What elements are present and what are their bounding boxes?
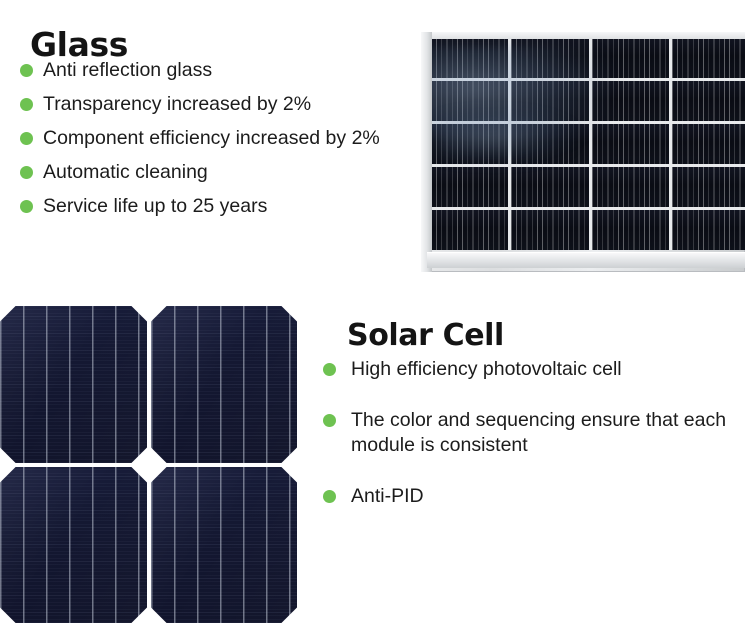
- glass-feature-text: Automatic cleaning: [43, 160, 420, 185]
- glass-section-heading: Glass: [30, 28, 128, 61]
- list-item: Component efficiency increased by 2%: [20, 126, 420, 151]
- list-item: Automatic cleaning: [20, 160, 420, 185]
- pv-cell: [431, 81, 508, 121]
- cell-chamfer-corner: [0, 306, 16, 322]
- pv-cell: [592, 167, 669, 207]
- cell-chamfer-corner: [131, 467, 147, 483]
- cell-chamfer-corner: [0, 447, 16, 463]
- cell-sheen: [151, 467, 298, 623]
- solar-cell-feature-text: Anti-PID: [351, 484, 735, 509]
- solar-cell-feature-list: High efficiency photovoltaic cell The co…: [323, 357, 735, 509]
- bullet-dot-icon: [323, 363, 336, 376]
- cell-chamfer-corner: [281, 306, 297, 322]
- bullet-dot-icon: [323, 490, 336, 503]
- module-bottom-rail: [427, 252, 745, 268]
- cell-sheen: [0, 467, 147, 623]
- bullet-dot-icon: [20, 200, 33, 213]
- pv-cell: [431, 124, 508, 164]
- mono-cell: [151, 306, 298, 463]
- bullet-dot-icon: [20, 64, 33, 77]
- cell-chamfer-corner: [131, 306, 147, 322]
- bullet-dot-icon: [20, 166, 33, 179]
- solar-cell-feature-text: High efficiency photovoltaic cell: [351, 357, 735, 382]
- pv-cell: [672, 38, 745, 78]
- pv-cell: [592, 124, 669, 164]
- mono-cell: [0, 467, 147, 623]
- glass-feature-text: Transparency increased by 2%: [43, 92, 420, 117]
- solar-cell-feature-text: The color and sequencing ensure that eac…: [351, 408, 735, 458]
- cell-chamfer-corner: [151, 306, 167, 322]
- cell-chamfer-corner: [281, 447, 297, 463]
- pv-cell: [672, 167, 745, 207]
- pv-cell: [431, 38, 508, 78]
- module-top-rail: [421, 32, 745, 39]
- glass-feature-text: Component efficiency increased by 2%: [43, 126, 420, 151]
- bullet-dot-icon: [20, 98, 33, 111]
- cell-chamfer-corner: [281, 467, 297, 483]
- pv-cell: [511, 124, 588, 164]
- cell-chamfer-corner: [131, 447, 147, 463]
- list-item: Transparency increased by 2%: [20, 92, 420, 117]
- pv-cell: [672, 81, 745, 121]
- list-item: The color and sequencing ensure that eac…: [323, 408, 735, 458]
- cell-chamfer-corner: [0, 467, 16, 483]
- glass-feature-text: Service life up to 25 years: [43, 194, 420, 219]
- cell-chamfer-corner: [151, 607, 167, 623]
- list-item: High efficiency photovoltaic cell: [323, 357, 735, 382]
- pv-cell: [511, 210, 588, 250]
- module-left-rail: [421, 32, 432, 272]
- module-glass-surface: [431, 38, 745, 250]
- pv-cell: [431, 210, 508, 250]
- list-item: Anti-PID: [323, 484, 735, 509]
- pv-cell: [511, 38, 588, 78]
- cell-sheen: [0, 306, 147, 463]
- mono-cell: [0, 306, 147, 463]
- cell-chamfer-corner: [0, 607, 16, 623]
- glass-feature-text: Anti reflection glass: [43, 58, 420, 83]
- cell-chamfer-corner: [151, 467, 167, 483]
- pv-cell: [592, 81, 669, 121]
- list-item: Service life up to 25 years: [20, 194, 420, 219]
- monocrystalline-cells-photo: [0, 306, 297, 623]
- cell-sheen: [151, 306, 298, 463]
- pv-cell: [592, 38, 669, 78]
- product-feature-slide: Glass Anti reflection glass Transparency…: [0, 0, 745, 623]
- cell-chamfer-corner: [131, 607, 147, 623]
- list-item: Anti reflection glass: [20, 58, 420, 83]
- glass-feature-list: Anti reflection glass Transparency incre…: [20, 58, 420, 228]
- pv-cell: [672, 210, 745, 250]
- bullet-dot-icon: [20, 132, 33, 145]
- pv-cell: [431, 167, 508, 207]
- solar-cell-section-heading: Solar Cell: [347, 321, 504, 351]
- solar-module-photo: [421, 32, 745, 272]
- pv-cell: [511, 81, 588, 121]
- bullet-dot-icon: [323, 414, 336, 427]
- mono-cell: [151, 467, 298, 623]
- module-cell-grid: [431, 38, 745, 250]
- pv-cell: [592, 210, 669, 250]
- cell-chamfer-corner: [281, 607, 297, 623]
- cell-chamfer-corner: [151, 447, 167, 463]
- pv-cell: [511, 167, 588, 207]
- cell-quad-grid: [0, 306, 297, 623]
- pv-cell: [672, 124, 745, 164]
